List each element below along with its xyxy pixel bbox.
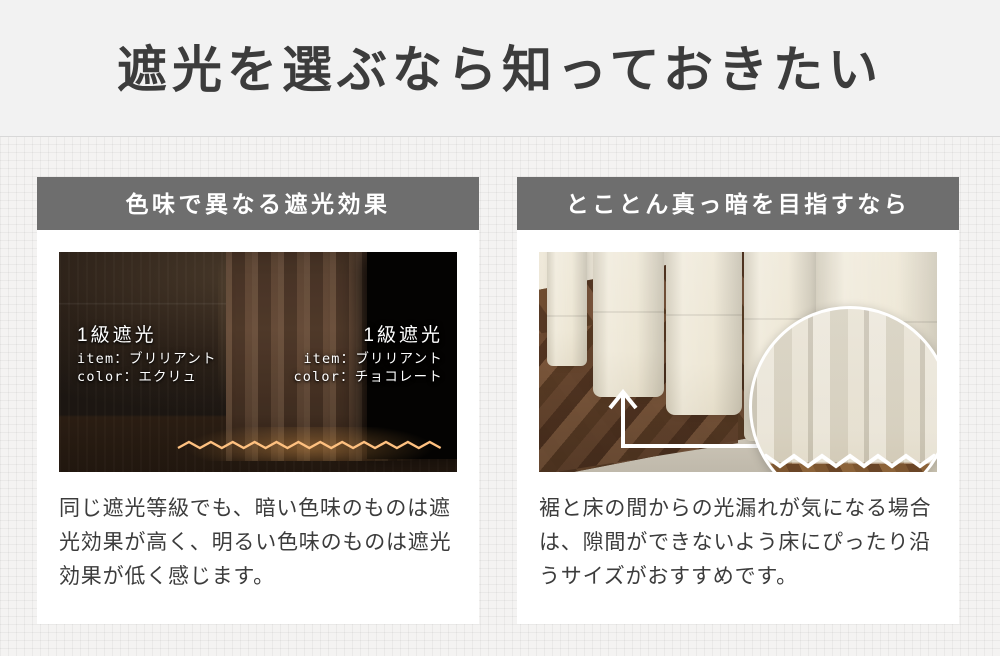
two-curtain-comparison-photo: 1級遮光 item：ブリリアント color：エクリュ 1級遮光 item：ブリ…	[59, 252, 457, 472]
card-pitch-black: とことん真っ暗を目指すなら	[517, 177, 959, 624]
card-body-pitch-black: 裾と床の間からの光漏れが気になる場合は、隙間ができないよう床にぴったり沿うサイズ…	[517, 472, 959, 624]
curtain-panel-2	[593, 252, 665, 397]
card-body-color-difference: 同じ遮光等級でも、暗い色味のものは遮光効果が高く、明るい色味のものは遮光効果が低…	[37, 472, 479, 624]
label-grade: 1級遮光	[77, 323, 217, 348]
curtain-hem-floor-photo	[539, 252, 937, 472]
label-color: color：チョコレート	[293, 369, 443, 387]
label-grade: 1級遮光	[293, 323, 443, 348]
card-header-color-difference: 色味で異なる遮光効果	[37, 177, 479, 230]
page-title: 遮光を選ぶなら知っておきたい	[117, 45, 883, 95]
inset-curtain-folds	[752, 309, 937, 472]
label-chocolate-curtain: 1級遮光 item：ブリリアント color：チョコレート	[293, 323, 443, 387]
page-header: 遮光を選ぶなら知っておきたい	[0, 0, 1000, 137]
curtain-panel-1	[547, 252, 587, 366]
page-root: 遮光を選ぶなら知っておきたい 色味で異なる遮光効果 1級遮光 item：ブリリア…	[0, 0, 1000, 656]
card-body-text: 同じ遮光等級でも、暗い色味のものは遮光効果が高く、明るい色味のものは遮光効果が低…	[59, 492, 457, 594]
label-item: item：ブリリアント	[293, 351, 443, 369]
label-color: color：エクリュ	[77, 369, 217, 387]
card-header-label: 色味で異なる遮光効果	[126, 193, 391, 216]
cream-curtain-scene	[539, 252, 937, 472]
inset-hem-zigzag-icon	[752, 450, 937, 472]
card-header-pitch-black: とことん真っ暗を目指すなら	[517, 177, 959, 230]
card-color-difference: 色味で異なる遮光効果 1級遮光 item：ブリリアント color：エクリュ 1…	[37, 177, 479, 624]
card-body-text: 裾と床の間からの光漏れが気になる場合は、隙間ができないよう床にぴったり沿うサイズ…	[539, 492, 937, 594]
light-leak-zigzag-icon	[178, 439, 441, 452]
curtain-panel-3	[666, 252, 742, 415]
magnifier-inset	[749, 306, 937, 472]
card-header-label: とことん真っ暗を目指すなら	[566, 193, 911, 216]
label-ecru-curtain: 1級遮光 item：ブリリアント color：エクリュ	[77, 323, 217, 387]
label-item: item：ブリリアント	[77, 351, 217, 369]
